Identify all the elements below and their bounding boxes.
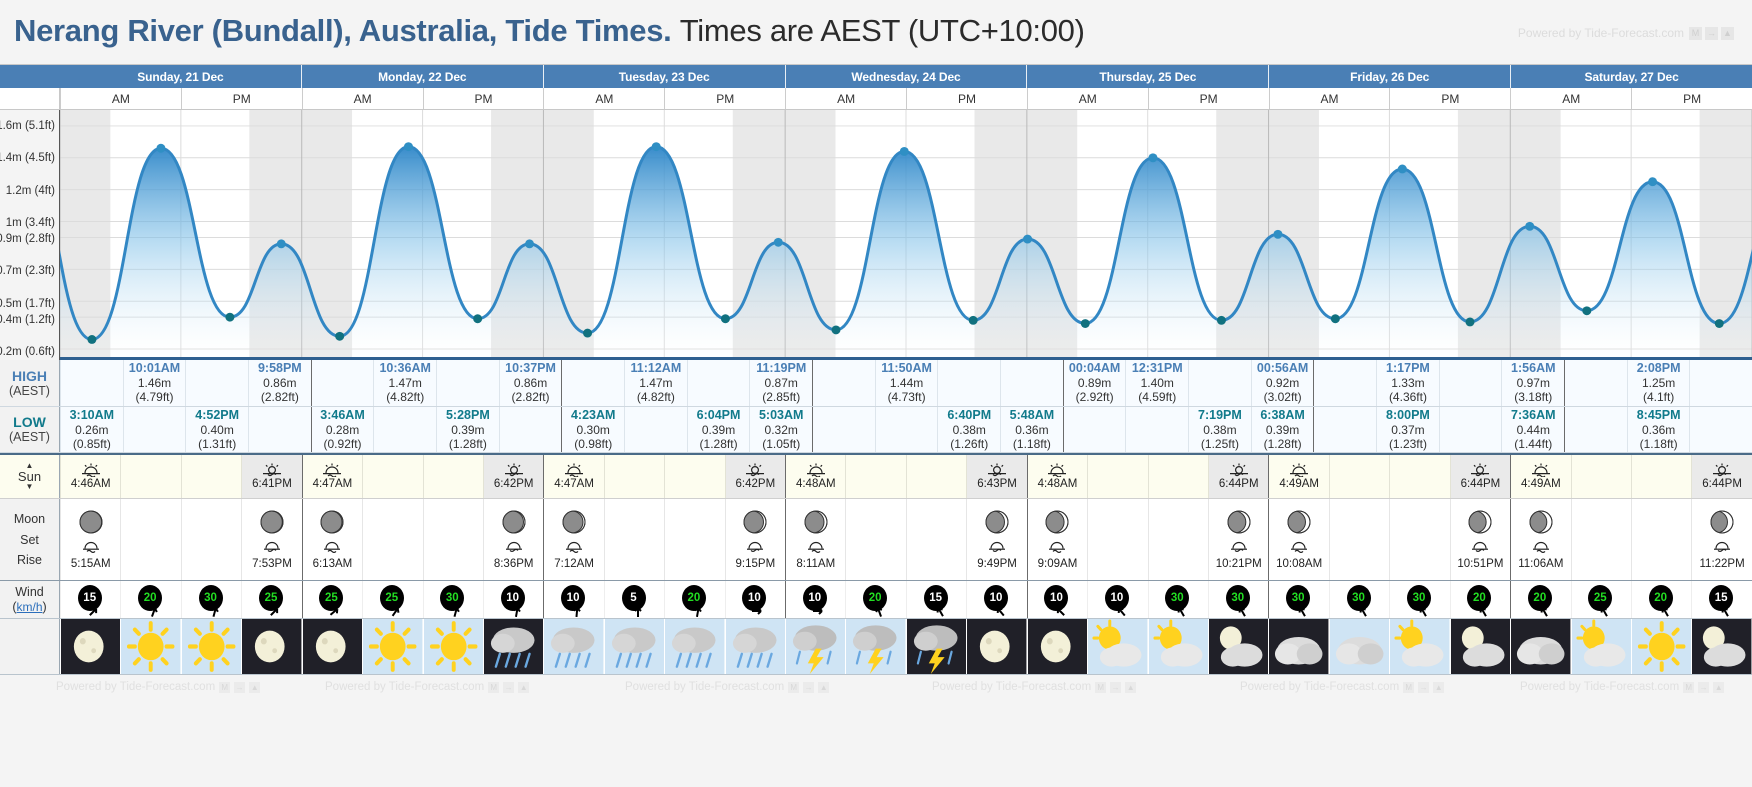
tide-feet: (1.28ft) [700, 437, 738, 451]
tide-time: 5:03AM [759, 408, 803, 423]
high-tide-cell-22 [1439, 360, 1502, 406]
moon-cell-17 [1087, 499, 1147, 580]
tide-point-0 [87, 335, 96, 344]
weather-cell-4 [302, 619, 362, 674]
wind-unit-link[interactable]: km/h [16, 600, 42, 614]
wind-badge: 10 [1103, 585, 1133, 615]
moonrise-icon [503, 541, 525, 553]
tide-feet: (1.05ft) [762, 437, 800, 451]
powered-by-header: Powered by Tide-Forecast.com M → ▲ [1518, 26, 1734, 40]
tide-plot [60, 110, 1752, 360]
wind-badge: 20 [1647, 585, 1677, 615]
high-tide-cell-8 [561, 360, 624, 406]
tide-time: 5:28PM [446, 408, 490, 423]
moon-time: 10:08AM [1276, 558, 1322, 570]
weather-cell-10 [664, 619, 724, 674]
sun-time: 6:43PM [977, 478, 1017, 490]
weather-cell-12 [785, 619, 845, 674]
sun-cell-7: 6:42PM [483, 455, 543, 498]
moon-phase-icon [742, 509, 768, 535]
sun-cell-0: 4:46AM [60, 455, 120, 498]
sun-cell-12: 4:48AM [785, 455, 845, 498]
wind-cell-6: 30 [423, 581, 483, 618]
high-tide-cell-14 [937, 360, 1000, 406]
moon-phase-icon [1709, 509, 1735, 535]
sun-row: ▲ Sun ▼ 4:46AM6:41PM4:47AM6:42PM4:47AM6:… [0, 453, 1752, 499]
badge-arrow-icon: → [1110, 682, 1121, 693]
sun-cell-17 [1087, 455, 1147, 498]
wind-badge: 20 [680, 585, 710, 615]
moonrise-icon [986, 541, 1008, 553]
sun-cell-6 [423, 455, 483, 498]
tide-metres: 1.25m [1642, 376, 1675, 390]
wind-cell-20: 30 [1268, 581, 1328, 618]
weather-cell-13 [845, 619, 905, 674]
wind-cell-1: 20 [120, 581, 180, 618]
tide-point-18 [1217, 316, 1226, 325]
partly-cloudy-icon [1390, 619, 1449, 674]
low-tide-cell-21: 8:00PM0.37m(1.23ft) [1376, 407, 1439, 452]
sunny-icon [121, 619, 180, 674]
badge-triangle-icon: ▲ [818, 682, 829, 693]
tide-feet: (4.59ft) [1138, 390, 1176, 404]
ampm-cell-12: AM [1510, 88, 1631, 109]
moon-phase-icon [561, 509, 587, 535]
badge-triangle-icon: ▲ [1721, 27, 1734, 40]
moon-time: 5:15AM [71, 558, 111, 570]
tide-feet: (4.36ft) [1389, 390, 1427, 404]
tide-metres: 1.33m [1391, 376, 1424, 390]
wind-cell-3: 25 [241, 581, 301, 618]
ampm-cell-11: PM [1389, 88, 1510, 109]
tide-metres: 0.44m [1517, 423, 1550, 437]
footer-watermark-1: Powered by Tide-Forecast.com M→▲ [56, 681, 260, 693]
tide-point-6 [473, 314, 482, 323]
moon-time: 6:13AM [313, 558, 353, 570]
low-tide-row: LOW (AEST) 3:10AM0.26m(0.85ft)4:52PM0.40… [0, 407, 1752, 453]
badge-triangle-icon: ▲ [518, 682, 529, 693]
sun-time: 4:48AM [796, 478, 836, 490]
weather-cell-8 [543, 619, 603, 674]
tide-metres: 0.86m [514, 376, 547, 390]
tide-point-13 [900, 147, 909, 156]
badge-arrow-icon: → [1705, 27, 1718, 40]
high-tide-cell-19: 00:56AM0.92m(3.02ft) [1251, 360, 1314, 406]
high-tide-cell-2 [185, 360, 248, 406]
tide-metres: 0.86m [263, 376, 296, 390]
wind-cell-12: 10 [785, 581, 845, 618]
moon-cell-1 [120, 499, 180, 580]
tide-feet: (1.23ft) [1389, 437, 1427, 451]
rain-night-icon [484, 619, 543, 674]
sunset-icon [1228, 463, 1250, 477]
moon-cell-3: 7:53PM [241, 499, 301, 580]
badge-arrow-icon: → [1698, 682, 1709, 693]
tide-feet: (2.92ft) [1076, 390, 1114, 404]
tide-point-10 [721, 314, 730, 323]
footer-watermark-text-2: Powered by Tide-Forecast.com [325, 681, 484, 693]
moon-time: 8:11AM [796, 558, 835, 570]
y-tick-7: 0.4m (1.2ft) [0, 314, 55, 326]
tide-metres: 0.37m [1391, 423, 1424, 437]
wind-badge: 30 [438, 585, 468, 615]
tide-time: 8:45PM [1637, 408, 1681, 423]
thunder-icon [846, 619, 905, 674]
low-tide-cell-12 [812, 407, 875, 452]
ampm-header-corner [0, 88, 60, 109]
high-tide-cell-23: 1:56AM0.97m(3.18ft) [1501, 360, 1564, 406]
low-tide-cell-23: 7:36AM0.44m(1.44ft) [1501, 407, 1564, 452]
moon-cell-0: 5:15AM [60, 499, 120, 580]
low-tide-cell-19: 6:38AM0.39m(1.28ft) [1251, 407, 1314, 452]
tide-metres: 0.38m [953, 423, 986, 437]
moon-cell-23: 10:51PM [1450, 499, 1510, 580]
tide-point-3 [277, 239, 286, 248]
moon-cell-18 [1148, 499, 1208, 580]
wind-badge: 25 [378, 585, 408, 615]
tide-point-17 [1148, 153, 1157, 162]
low-tide-cell-9 [624, 407, 687, 452]
low-tide-cell-25: 8:45PM0.36m(1.18ft) [1627, 407, 1690, 452]
wind-direction-arrow-icon [752, 605, 764, 617]
wind-direction-arrow-icon [207, 603, 222, 618]
ampm-cell-10: AM [1269, 88, 1390, 109]
sunny-icon [363, 619, 422, 674]
moon-cell-10 [664, 499, 724, 580]
tide-metres: 0.36m [1642, 423, 1675, 437]
tide-feet: (2.85ft) [762, 390, 800, 404]
tide-time: 4:23AM [571, 408, 615, 423]
tide-feet: (1.28ft) [1264, 437, 1302, 451]
tide-point-14 [969, 316, 978, 325]
y-tick-5: 0.7m (2.3ft) [0, 265, 55, 277]
weather-cell-14 [906, 619, 966, 674]
sun-cell-20: 4:49AM [1268, 455, 1328, 498]
badge-arrow-icon: → [503, 682, 514, 693]
tide-point-19 [1273, 230, 1282, 239]
tide-metres: 0.39m [702, 423, 735, 437]
moon-cell-19: 10:21PM [1208, 499, 1268, 580]
moon-phase-icon [259, 509, 285, 535]
wind-cell-2: 30 [181, 581, 241, 618]
tide-metres: 0.36m [1015, 423, 1048, 437]
weather-cell-1 [120, 619, 180, 674]
partly-cloudy-night-icon [1209, 619, 1268, 674]
high-label-unit: (AEST) [9, 384, 50, 398]
wind-cell-17: 10 [1087, 581, 1147, 618]
high-tide-cell-20 [1313, 360, 1376, 406]
weather-cell-24 [1510, 619, 1570, 674]
day-header-5: Friday, 26 Dec [1268, 65, 1510, 88]
sun-cell-3: 6:41PM [241, 455, 301, 498]
tide-time: 10:36AM [379, 361, 430, 376]
low-tide-cell-20 [1313, 407, 1376, 452]
tide-feet: (4.82ft) [637, 390, 675, 404]
tide-time: 8:00PM [1386, 408, 1430, 423]
tide-metres: 0.39m [451, 423, 484, 437]
moon-rise-label: Rise [17, 553, 42, 567]
tide-point-15 [1023, 235, 1032, 244]
y-tick-4: 0.9m (2.8ft) [0, 233, 55, 245]
moon-phase-icon [1226, 509, 1252, 535]
wind-badge: 15 [922, 585, 952, 615]
tide-point-12 [832, 325, 841, 334]
wind-direction-arrow-icon [813, 605, 825, 617]
wind-direction-arrow-icon [449, 603, 464, 618]
wind-badge: 30 [1224, 585, 1254, 615]
ampm-header-row: AMPMAMPMAMPMAMPMAMPMAMPMAMPM [0, 88, 1752, 110]
badge-triangle-icon: ▲ [1125, 682, 1136, 693]
moon-phase-icon [319, 509, 345, 535]
tide-time: 11:19PM [756, 361, 806, 376]
tide-metres: 0.39m [1266, 423, 1299, 437]
sunrise-icon [1046, 463, 1068, 477]
wind-badge: 20 [1465, 585, 1495, 615]
weather-cell-25 [1571, 619, 1631, 674]
moon-cell-6 [423, 499, 483, 580]
moonset-icon [1530, 541, 1552, 553]
tide-point-24 [1582, 306, 1591, 315]
tide-time: 10:01AM [129, 361, 180, 376]
tide-feet: (2.82ft) [261, 390, 299, 404]
moon-time: 7:12AM [554, 558, 594, 570]
sun-time: 4:47AM [313, 478, 353, 490]
tide-point-11 [774, 238, 783, 247]
tide-time: 4:52PM [195, 408, 239, 423]
sun-cell-1 [120, 455, 180, 498]
tide-feet: (1.18ft) [1640, 437, 1678, 451]
tide-chart-row: 1.6m (5.1ft)1.4m (4.5ft)1.2m (4ft)1m (3.… [0, 110, 1752, 360]
badge-m-icon: M [1403, 682, 1414, 693]
page-footer: Powered by Tide-Forecast.com M→▲ Powered… [0, 675, 1752, 703]
low-tide-cell-13 [875, 407, 938, 452]
tide-feet: (4.73ft) [888, 390, 926, 404]
sunset-icon [986, 463, 1008, 477]
wind-badge: 15 [1707, 585, 1737, 615]
sun-cell-27: 6:44PM [1691, 455, 1751, 498]
moon-cell-20: 10:08AM [1268, 499, 1328, 580]
sun-cell-11: 6:42PM [725, 455, 785, 498]
low-tide-cell-6: 5:28PM0.39m(1.28ft) [436, 407, 499, 452]
wind-cell-5: 25 [362, 581, 422, 618]
y-tick-6: 0.5m (1.7ft) [0, 298, 55, 310]
location-title: Nerang River (Bundall), Australia, Tide … [14, 13, 671, 48]
sun-time: 6:44PM [1219, 478, 1259, 490]
day-header-4: Thursday, 25 Dec [1026, 65, 1268, 88]
tide-feet: (1.31ft) [198, 437, 236, 451]
badge-m-icon: M [788, 682, 799, 693]
wind-badge: 10 [559, 585, 589, 615]
sun-cell-18 [1148, 455, 1208, 498]
moon-cell-11: 9:15PM [725, 499, 785, 580]
sun-cell-4: 4:47AM [302, 455, 362, 498]
low-tide-cell-24 [1564, 407, 1627, 452]
sun-cell-22 [1389, 455, 1449, 498]
sunset-icon [744, 463, 766, 477]
sun-cell-13 [845, 455, 905, 498]
wind-badge: 10 [982, 585, 1012, 615]
low-label-text: LOW [13, 414, 46, 430]
sun-down-arrow-icon: ▼ [26, 483, 34, 491]
low-tide-cell-1 [123, 407, 186, 452]
high-tide-cell-25: 2:08PM1.25m(4.1ft) [1627, 360, 1690, 406]
moon-time: 10:51PM [1457, 558, 1503, 570]
high-tide-cell-6 [436, 360, 499, 406]
weather-row [0, 619, 1752, 675]
wind-badge: 25 [317, 585, 347, 615]
tide-time: 1:56AM [1511, 361, 1555, 376]
weather-cell-3 [241, 619, 301, 674]
page-header: Nerang River (Bundall), Australia, Tide … [0, 0, 1752, 64]
sunset-icon [261, 463, 283, 477]
sun-time: 4:48AM [1038, 478, 1078, 490]
moon-time: 9:49PM [977, 558, 1017, 570]
tide-metres: 0.87m [765, 376, 798, 390]
tide-feet: (3.18ft) [1514, 390, 1552, 404]
day-header-row: Sunday, 21 DecMonday, 22 DecTuesday, 23 … [0, 65, 1752, 88]
tide-point-4 [335, 332, 344, 341]
tide-feet: (1.25ft) [1201, 437, 1239, 451]
moon-cell-9 [604, 499, 664, 580]
weather-cell-19 [1208, 619, 1268, 674]
tide-metres: 0.40m [201, 423, 234, 437]
wind-cell-13: 20 [845, 581, 905, 618]
moonset-icon [1288, 541, 1310, 553]
low-tide-cell-10: 6:04PM0.39m(1.28ft) [687, 407, 750, 452]
footer-watermark-text-6: Powered by Tide-Forecast.com [1520, 681, 1679, 693]
moon-cell-27: 11:22PM [1691, 499, 1751, 580]
tide-metres: 0.26m [75, 423, 108, 437]
clear-night-icon [242, 619, 301, 674]
moonset-icon [563, 541, 585, 553]
moon-cell-4: 6:13AM [302, 499, 362, 580]
wind-cell-18: 30 [1148, 581, 1208, 618]
thunder-night-icon [907, 619, 966, 674]
wind-badge: 30 [197, 585, 227, 615]
tide-point-23 [1525, 222, 1534, 231]
sun-cell-14 [906, 455, 966, 498]
wind-row: Wind (km/h) 1520302525253010105201010201… [0, 581, 1752, 619]
high-tide-cell-1: 10:01AM1.46m(4.79ft) [123, 360, 186, 406]
moon-cell-14 [906, 499, 966, 580]
sun-time: 6:42PM [736, 478, 776, 490]
moonset-icon [321, 541, 343, 553]
moon-set-label: Set [20, 533, 39, 547]
weather-cell-6 [423, 619, 483, 674]
tide-metres: 0.92m [1266, 376, 1299, 390]
moon-cell-24: 11:06AM [1510, 499, 1570, 580]
tide-time: 3:10AM [70, 408, 114, 423]
moonrise-icon [744, 541, 766, 553]
moon-phase-icon [78, 509, 104, 535]
weather-cell-22 [1389, 619, 1449, 674]
footer-watermark-text-4: Powered by Tide-Forecast.com [932, 681, 1091, 693]
weather-cell-7 [483, 619, 543, 674]
day-header-1: Monday, 22 Dec [301, 65, 543, 88]
sun-cell-26 [1631, 455, 1691, 498]
wind-badge: 30 [1163, 585, 1193, 615]
sunny-icon [182, 619, 241, 674]
ampm-cell-8: AM [1027, 88, 1148, 109]
sunrise-icon [1530, 463, 1552, 477]
powered-by-text: Powered by Tide-Forecast.com [1518, 26, 1684, 40]
ampm-cell-0: AM [60, 88, 181, 109]
sun-time: 4:49AM [1521, 478, 1561, 490]
sun-time: 4:47AM [554, 478, 594, 490]
cloudy-night-icon [1511, 619, 1570, 674]
wind-badge: 30 [1284, 585, 1314, 615]
wind-cell-11: 10 [725, 581, 785, 618]
sun-time: 4:49AM [1279, 478, 1319, 490]
ampm-cell-9: PM [1148, 88, 1269, 109]
clear-night-icon [61, 619, 120, 674]
sun-cell-15: 6:43PM [966, 455, 1026, 498]
partly-cloudy-icon [1572, 619, 1631, 674]
low-tide-cell-3 [248, 407, 311, 452]
y-tick-3: 1m (3.4ft) [6, 217, 55, 229]
tide-time: 00:56AM [1257, 361, 1308, 376]
tide-point-26 [1715, 319, 1724, 328]
sun-time: 6:41PM [252, 478, 292, 490]
moon-phase-icon [803, 509, 829, 535]
tide-point-8 [583, 329, 592, 338]
moon-time: 11:06AM [1518, 558, 1563, 570]
moon-time: 10:21PM [1216, 558, 1262, 570]
tide-time: 1:17PM [1386, 361, 1430, 376]
moon-cell-22 [1389, 499, 1449, 580]
tide-point-1 [156, 144, 165, 153]
tide-time: 6:40PM [947, 408, 991, 423]
wind-badge: 10 [801, 585, 831, 615]
sunset-icon [503, 463, 525, 477]
clear-night-icon [967, 619, 1026, 674]
high-tide-cell-12 [812, 360, 875, 406]
tide-chart-page: Nerang River (Bundall), Australia, Tide … [0, 0, 1752, 787]
weather-cell-27 [1691, 619, 1751, 674]
partly-cloudy-icon [1088, 619, 1147, 674]
footer-watermark-text-1: Powered by Tide-Forecast.com [56, 681, 215, 693]
moonset-icon [805, 541, 827, 553]
tide-time: 9:58PM [258, 361, 302, 376]
sun-cell-24: 4:49AM [1510, 455, 1570, 498]
moon-cell-13 [845, 499, 905, 580]
moon-row: Moon Set Rise 5:15AM7:53PM6:13AM8:36PM7:… [0, 499, 1752, 581]
tide-metres: 0.38m [1203, 423, 1236, 437]
low-tide-cell-0: 3:10AM0.26m(0.85ft) [60, 407, 123, 452]
weather-cell-17 [1087, 619, 1147, 674]
tide-point-21 [1398, 165, 1407, 174]
tide-feet: (4.1ft) [1643, 390, 1674, 404]
moon-phase-icon [1286, 509, 1312, 535]
weather-cell-11 [725, 619, 785, 674]
moon-phase-icon [1528, 509, 1554, 535]
sun-label: ▲ Sun ▼ [0, 455, 60, 498]
low-tide-cell-7 [499, 407, 562, 452]
footer-watermark-5: Powered by Tide-Forecast.com M→▲ [1240, 681, 1444, 693]
wind-badge: 10 [1042, 585, 1072, 615]
timezone-note: Times are AEST (UTC+10:00) [680, 13, 1085, 48]
tide-feet: (1.18ft) [1013, 437, 1051, 451]
weather-cell-20 [1268, 619, 1328, 674]
wind-cell-4: 25 [302, 581, 362, 618]
high-tide-cell-26 [1689, 360, 1752, 406]
wind-direction-arrow-icon [632, 605, 644, 617]
moon-phase-icon [1044, 509, 1070, 535]
day-header-6: Saturday, 27 Dec [1510, 65, 1752, 88]
weather-cell-21 [1329, 619, 1389, 674]
moon-phase-icon [984, 509, 1010, 535]
sun-cell-25 [1571, 455, 1631, 498]
